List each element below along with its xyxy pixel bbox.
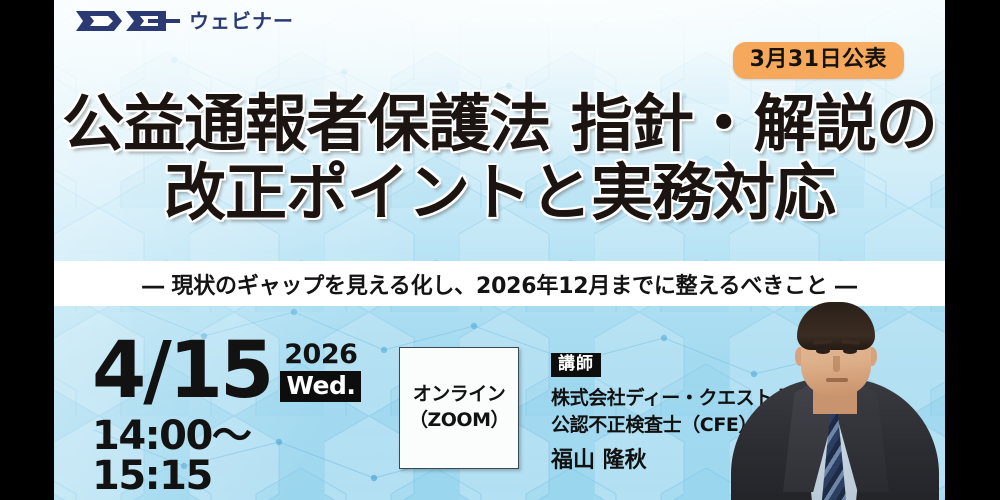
speaker-photo <box>725 290 945 500</box>
venue-line-2: （ZOOM） <box>409 408 509 434</box>
title-line-1: 公益通報者保護法 指針・解説の <box>54 92 945 155</box>
webinar-banner: ウェビナー 3月31日公表 公益通報者保護法 指針・解説の 改正ポイントと実務対… <box>0 0 1000 500</box>
logo-text: ウェビナー <box>189 11 294 31</box>
release-date-badge: 3月31日公表 <box>733 42 904 79</box>
date-month-day: 4/15 <box>92 336 271 408</box>
brand-logo[interactable]: ウェビナー <box>74 9 294 33</box>
dq-logo-icon <box>74 9 186 33</box>
event-time: 14:00〜15:15 <box>92 416 347 496</box>
venue-line-1: オンライン <box>413 382 506 408</box>
venue-box: オンライン （ZOOM） <box>399 347 519 469</box>
frame-right-bar <box>945 0 1000 500</box>
date-weekday-badge: Wed. <box>280 371 361 402</box>
title-line-2: 改正ポイントと実務対応 <box>54 161 945 224</box>
date-main-row: 4/15 2026 Wed. <box>92 336 347 408</box>
speaker-tag: 講師 <box>551 353 601 377</box>
date-year-weekday: 2026 Wed. <box>280 336 361 402</box>
date-year: 2026 <box>280 341 361 368</box>
banner-stage: ウェビナー 3月31日公表 公益通報者保護法 指針・解説の 改正ポイントと実務対… <box>54 0 945 500</box>
frame-left-bar <box>0 0 54 500</box>
title-block: 公益通報者保護法 指針・解説の 改正ポイントと実務対応 <box>54 92 945 224</box>
event-date-block: 4/15 2026 Wed. 14:00〜15:15 <box>92 336 347 496</box>
